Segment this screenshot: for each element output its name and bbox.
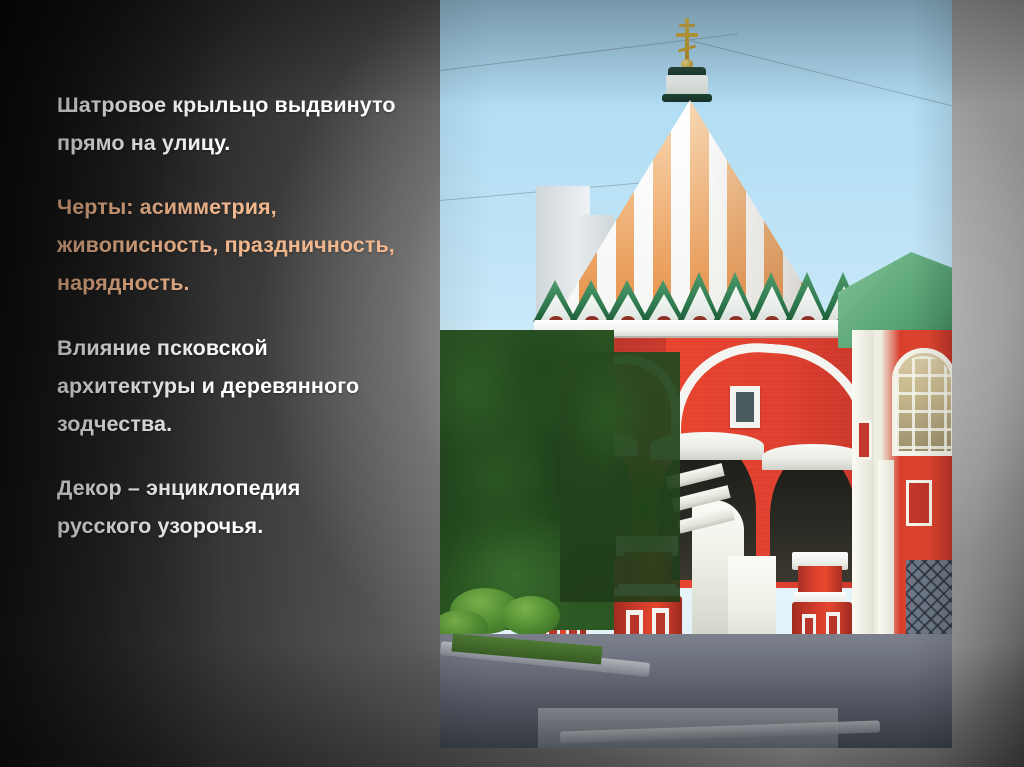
drum-cornice xyxy=(662,94,712,102)
paragraph-1: Шатровое крыльцо выдвинуто прямо на улиц… xyxy=(57,86,397,162)
pilaster xyxy=(852,330,874,660)
cross-icon xyxy=(679,24,695,27)
paragraph-2-features: Черты: асимметрия, живописность, праздни… xyxy=(57,188,397,302)
window-glass xyxy=(736,392,754,422)
tree-foliage-mid xyxy=(560,352,680,602)
small-window xyxy=(730,386,760,428)
presentation-slide: Шатровое крыльцо выдвинуто прямо на улиц… xyxy=(0,0,1024,767)
text-column: Шатровое крыльцо выдвинуто прямо на улиц… xyxy=(57,86,397,545)
archivolt-right xyxy=(762,444,864,470)
shrub xyxy=(502,596,560,636)
church-porch-photo xyxy=(440,0,952,748)
paragraph-4-decor: Декор – энциклопедия русского узорочья. xyxy=(57,469,397,545)
adjacent-window xyxy=(856,420,872,460)
pilaster xyxy=(878,460,894,660)
adjacent-window xyxy=(906,480,932,526)
paragraph-3-influence: Влияние псковской архитектуры и деревянн… xyxy=(57,329,397,443)
window-muntins xyxy=(896,356,952,454)
cross-icon xyxy=(676,33,698,37)
